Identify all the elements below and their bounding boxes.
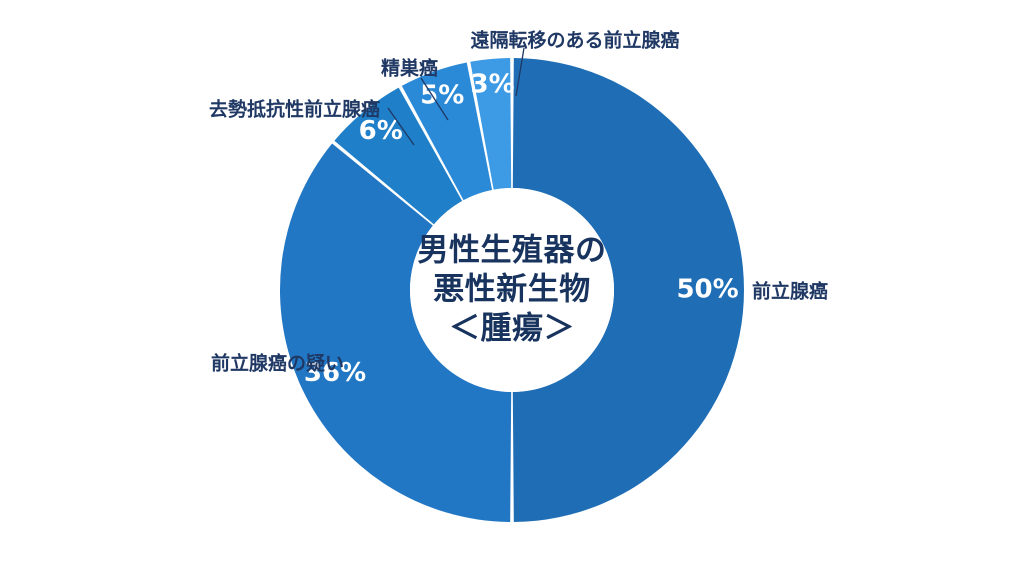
slice-percent-label: 5% [420, 81, 464, 111]
slice-percent-label: 3% [471, 69, 515, 99]
donut-chart-svg: 50%36%6%5%3% 前立腺癌 前立腺癌の疑い 去勢抵抗性前立腺癌 精巣癌 … [0, 0, 1024, 576]
outer-label-testicular-cancer: 精巣癌 [381, 57, 438, 80]
donut-chart: 50%36%6%5%3% 前立腺癌 前立腺癌の疑い 去勢抵抗性前立腺癌 精巣癌 … [0, 0, 1024, 576]
center-title-line-1: 男性生殖器の [418, 233, 607, 269]
outer-label-castration-resistant-prostate-cancer: 去勢抵抗性前立腺癌 [209, 98, 380, 121]
center-title-line-2: 悪性新生物 [433, 272, 591, 308]
outer-label-prostate-cancer: 前立腺癌 [752, 280, 828, 303]
slice-percent-label: 50% [676, 275, 738, 305]
center-title-line-3: ＜腫瘍＞ [449, 311, 575, 347]
outer-label-suspected-prostate-cancer: 前立腺癌の疑い [211, 352, 344, 375]
outer-label-metastatic-prostate-cancer: 遠隔転移のある前立腺癌 [470, 29, 679, 52]
